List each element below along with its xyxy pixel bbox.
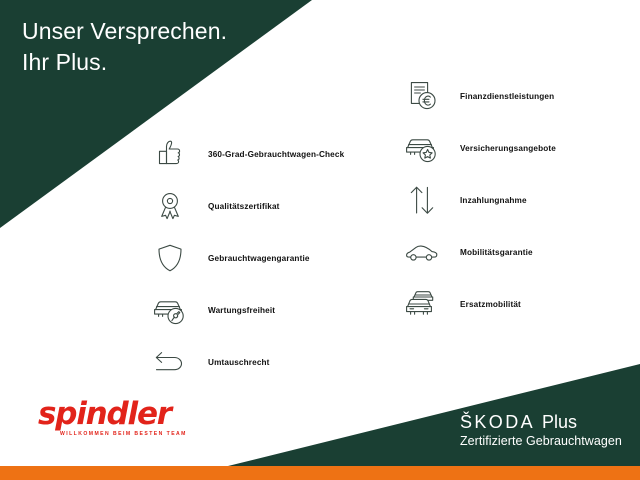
dealer-name: spindler bbox=[38, 398, 198, 430]
award-rosette-icon bbox=[148, 184, 192, 228]
feature-item-warranty: Gebrauchtwagengarantie bbox=[148, 232, 344, 284]
page-title: Unser Versprechen. Ihr Plus. bbox=[22, 16, 227, 78]
orange-bottom-bar bbox=[0, 466, 640, 480]
dealer-logo: spindler WILLKOMMEN BEIM BESTEN TEAM bbox=[38, 398, 198, 437]
feature-item-mobility-guarantee: Mobilitätsgarantie bbox=[400, 226, 556, 278]
document-euro-icon bbox=[400, 74, 444, 118]
two-cars-icon bbox=[400, 282, 444, 326]
brand-wordmark-row: ŠKODA Plus bbox=[460, 412, 622, 433]
feature-label: Qualitätszertifikat bbox=[208, 202, 280, 211]
feature-label: Mobilitätsgarantie bbox=[460, 248, 533, 257]
feature-label: Finanzdienstleistungen bbox=[460, 92, 554, 101]
car-star-icon bbox=[400, 126, 444, 170]
feature-item-360-check: 360-Grad-Gebrauchtwagen-Check bbox=[148, 128, 344, 180]
feature-label: Wartungsfreiheit bbox=[208, 306, 275, 315]
brand-subtitle: Zertifizierte Gebrauchtwagen bbox=[460, 434, 622, 448]
skoda-plus-label: Plus bbox=[542, 412, 577, 433]
feature-list-right: Finanzdienstleistungen Versicherungsange… bbox=[400, 70, 556, 330]
shield-icon bbox=[148, 236, 192, 280]
car-side-icon bbox=[400, 230, 444, 274]
return-arrow-icon bbox=[148, 340, 192, 384]
feature-item-quality-certificate: Qualitätszertifikat bbox=[148, 180, 344, 232]
feature-item-financial-services: Finanzdienstleistungen bbox=[400, 70, 556, 122]
feature-item-exchange-right: Umtauschrecht bbox=[148, 336, 344, 388]
feature-label: Umtauschrecht bbox=[208, 358, 270, 367]
feature-item-replacement-mobility: Ersatzmobilität bbox=[400, 278, 556, 330]
brand-footer: ŠKODA Plus Zertifizierte Gebrauchtwagen bbox=[460, 412, 622, 448]
feature-label: Gebrauchtwagengarantie bbox=[208, 254, 310, 263]
feature-list-left: 360-Grad-Gebrauchtwagen-Check Qualitätsz… bbox=[148, 128, 344, 388]
dealer-tagline: WILLKOMMEN BEIM BESTEN TEAM bbox=[60, 431, 198, 437]
feature-label: Ersatzmobilität bbox=[460, 300, 521, 309]
promo-banner: Unser Versprechen. Ihr Plus. 360-Grad-Ge… bbox=[0, 0, 640, 480]
feature-label: 360-Grad-Gebrauchtwagen-Check bbox=[208, 150, 344, 159]
feature-label: Inzahlungnahme bbox=[460, 196, 527, 205]
feature-item-insurance: Versicherungsangebote bbox=[400, 122, 556, 174]
car-wrench-icon bbox=[148, 288, 192, 332]
skoda-wordmark: ŠKODA bbox=[460, 412, 535, 433]
thumbs-up-icon bbox=[148, 132, 192, 176]
feature-item-maintenance: Wartungsfreiheit bbox=[148, 284, 344, 336]
feature-item-trade-in: Inzahlungnahme bbox=[400, 174, 556, 226]
up-down-arrows-icon bbox=[400, 178, 444, 222]
feature-label: Versicherungsangebote bbox=[460, 144, 556, 153]
